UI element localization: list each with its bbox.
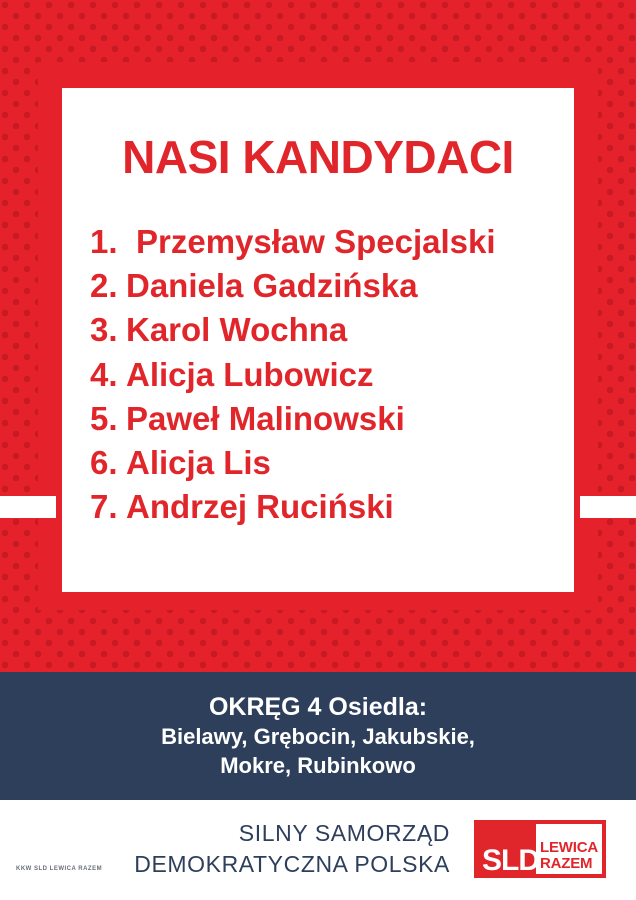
district-neighborhoods-line-2: Mokre, Rubinkowo [220, 752, 416, 781]
candidate-name: Andrzej Ruciński [126, 485, 394, 529]
sld-logo-sub-line-1: LEWICA [536, 840, 598, 856]
campaign-slogan: SILNY SAMORZĄD DEMOKRATYCZNA POLSKA [134, 818, 450, 880]
list-item: 5. Paweł Malinowski [90, 397, 574, 441]
list-item: 1. Przemysław Specjalski [90, 220, 574, 264]
committee-attribution: KKW SLD LEWICA RAZEM [16, 866, 102, 872]
candidate-number: 3. [90, 308, 126, 352]
candidate-number: 7. [90, 485, 126, 529]
sld-logo-sub-line-2: RAZEM [536, 856, 592, 872]
list-item: 3. Karol Wochna [90, 308, 574, 352]
candidate-name: Przemysław Specjalski [126, 220, 496, 264]
sld-logo-box: LEWICA RAZEM [536, 824, 602, 874]
candidate-name: Alicja Lubowicz [126, 353, 374, 397]
candidate-name: Daniela Gadzińska [126, 264, 418, 308]
candidate-name: Paweł Malinowski [126, 397, 405, 441]
candidate-number: 1. [90, 220, 126, 264]
district-heading: OKRĘG 4 Osiedla: [209, 691, 427, 723]
list-item: 2. Daniela Gadzińska [90, 264, 574, 308]
candidate-number: 5. [90, 397, 126, 441]
white-stripe-left [0, 496, 56, 518]
election-poster: NASI KANDYDACI 1. Przemysław Specjalski … [0, 0, 636, 900]
candidates-card: NASI KANDYDACI 1. Przemysław Specjalski … [62, 88, 574, 592]
list-item: 4. Alicja Lubowicz [90, 353, 574, 397]
slogan-line-1: SILNY SAMORZĄD [134, 818, 450, 849]
candidate-number: 4. [90, 353, 126, 397]
page-title: NASI KANDYDACI [62, 88, 574, 180]
white-stripe-right [580, 496, 636, 518]
slogan-line-2: DEMOKRATYCZNA POLSKA [134, 849, 450, 880]
candidate-number: 6. [90, 441, 126, 485]
candidate-name: Alicja Lis [126, 441, 271, 485]
candidate-number: 2. [90, 264, 126, 308]
list-item: 6. Alicja Lis [90, 441, 574, 485]
candidates-list: 1. Przemysław Specjalski 2. Daniela Gadz… [62, 180, 574, 530]
candidate-name: Karol Wochna [126, 308, 347, 352]
sld-logo: SLD LEWICA RAZEM [474, 820, 606, 878]
sld-logo-text: SLD [482, 846, 539, 876]
list-item: 7. Andrzej Ruciński [90, 485, 574, 529]
district-neighborhoods-line-1: Bielawy, Grębocin, Jakubskie, [161, 723, 475, 752]
district-band: OKRĘG 4 Osiedla: Bielawy, Grębocin, Jaku… [0, 672, 636, 800]
